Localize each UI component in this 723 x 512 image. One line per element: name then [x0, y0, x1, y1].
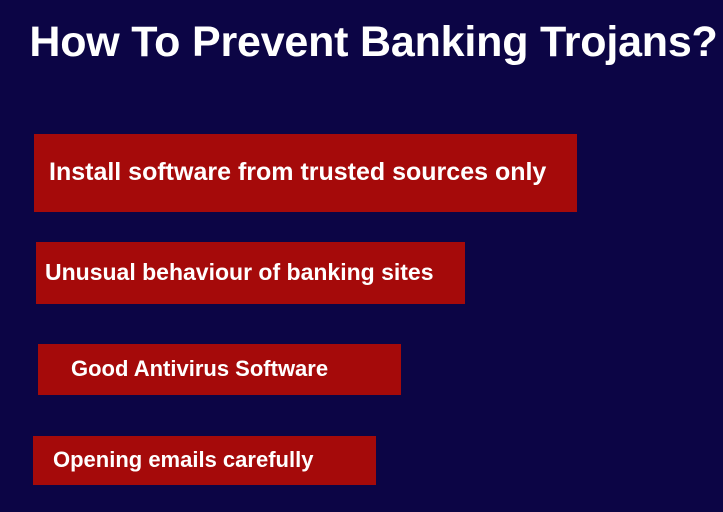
bar-label-1: Install software from trusted sources on…	[49, 159, 546, 187]
slide-canvas: How To Prevent Banking Trojans? Install …	[0, 0, 723, 512]
list-item: Good Antivirus Software	[38, 344, 401, 395]
bar-label-3: Good Antivirus Software	[71, 357, 328, 381]
bar-label-4: Opening emails carefully	[53, 448, 313, 472]
list-item: Unusual behaviour of banking sites	[36, 242, 465, 304]
bar-label-2: Unusual behaviour of banking sites	[45, 260, 434, 285]
page-title: How To Prevent Banking Trojans?	[0, 14, 723, 70]
list-item: Install software from trusted sources on…	[34, 134, 577, 212]
list-item: Opening emails carefully	[33, 436, 376, 485]
